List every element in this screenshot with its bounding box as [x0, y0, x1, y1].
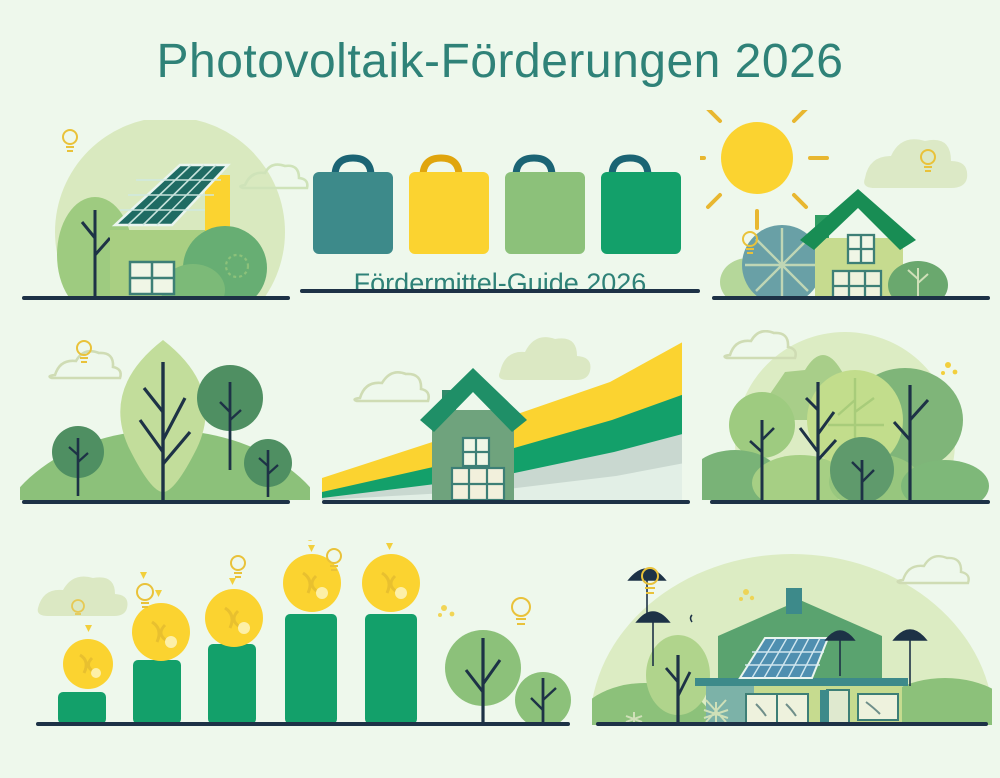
house-window-right	[858, 694, 898, 720]
coin-icon	[205, 589, 263, 647]
house-door	[827, 690, 849, 726]
cloud-outline-icon	[355, 372, 429, 401]
sun-icon	[687, 88, 827, 228]
infographic-canvas: Photovoltaik-Förderungen 2026 Fördermitt…	[0, 0, 1000, 778]
bar-3	[208, 644, 256, 724]
chimney	[786, 588, 802, 614]
ground-line-bottom-left	[36, 722, 570, 726]
bag-light-green[interactable]	[505, 158, 585, 254]
solar-home-landscape-scene	[577, 554, 1000, 778]
forest-scene	[689, 331, 989, 552]
coin-icon	[63, 639, 113, 689]
sparkle-icon	[941, 362, 957, 375]
growth-chart-house-scene	[322, 337, 690, 500]
cloud-icon	[898, 556, 969, 583]
solar-roof-house-scene	[55, 117, 307, 347]
coin-icon	[362, 554, 420, 612]
ground-line-top-left	[22, 296, 290, 300]
cloud-icon	[499, 337, 590, 380]
bag-teal[interactable]	[313, 158, 393, 254]
ground-line-middle-center	[322, 500, 690, 504]
bar-1	[58, 692, 106, 724]
cloud-icon	[38, 577, 128, 617]
bush	[901, 460, 989, 512]
ground-line-bottom-right	[596, 722, 988, 726]
sun-house-scene	[687, 88, 967, 309]
ground-line-middle-left	[22, 500, 290, 504]
lightbulb-icon	[63, 130, 77, 151]
roof-eave	[695, 678, 908, 686]
bag-yellow[interactable]	[409, 158, 489, 254]
coin-icon	[132, 603, 190, 661]
bar-2	[133, 660, 181, 724]
bags-row-scene	[313, 158, 681, 254]
bag-dark-green[interactable]	[601, 158, 681, 254]
bar-5	[365, 614, 417, 724]
illustration-layer	[0, 0, 1000, 778]
coin-bar-chart-scene	[38, 533, 571, 728]
cloud-with-bulb-icon	[864, 139, 967, 188]
ground-line-top-right	[712, 296, 990, 300]
bar-4	[285, 614, 337, 724]
door-frame	[820, 690, 829, 726]
ground-line-top-center	[300, 289, 700, 293]
ground-line-middle-right	[710, 500, 990, 504]
